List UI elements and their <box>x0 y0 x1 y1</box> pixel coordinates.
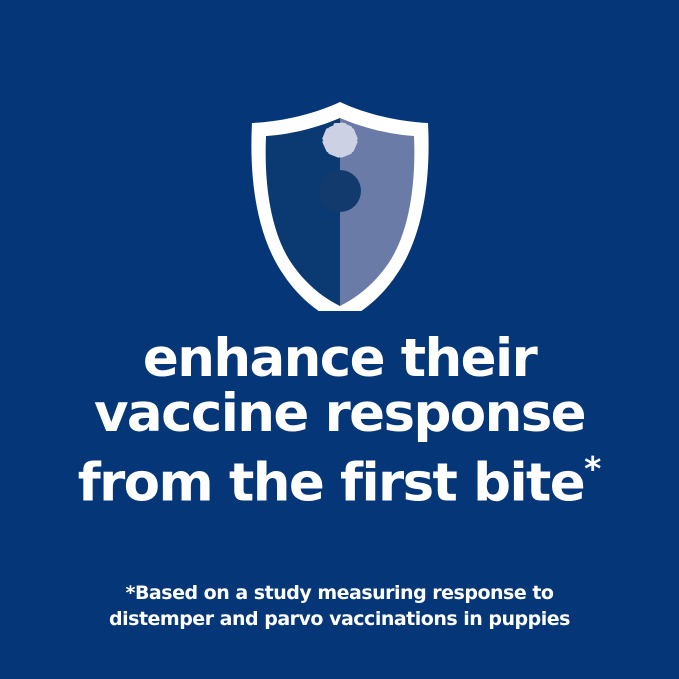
headline-line-3: from the first bite* <box>0 441 679 510</box>
footnote-line-2: distemper and parvo vaccinations in pupp… <box>0 606 679 632</box>
logo-container <box>0 96 679 311</box>
headline: enhance their vaccine response from the … <box>0 331 679 510</box>
headline-line-3-text: from the first bite <box>78 452 584 513</box>
footnote-marker: * <box>584 449 601 488</box>
footnote: *Based on a study measuring response to … <box>0 580 679 632</box>
promo-poster: enhance their vaccine response from the … <box>0 0 679 679</box>
headline-line-1: enhance their <box>0 331 679 386</box>
sunburst-center <box>319 170 361 212</box>
shield-sunburst-logo <box>240 96 440 311</box>
headline-line-2: vaccine response <box>0 386 679 441</box>
footnote-line-1: *Based on a study measuring response to <box>0 580 679 606</box>
